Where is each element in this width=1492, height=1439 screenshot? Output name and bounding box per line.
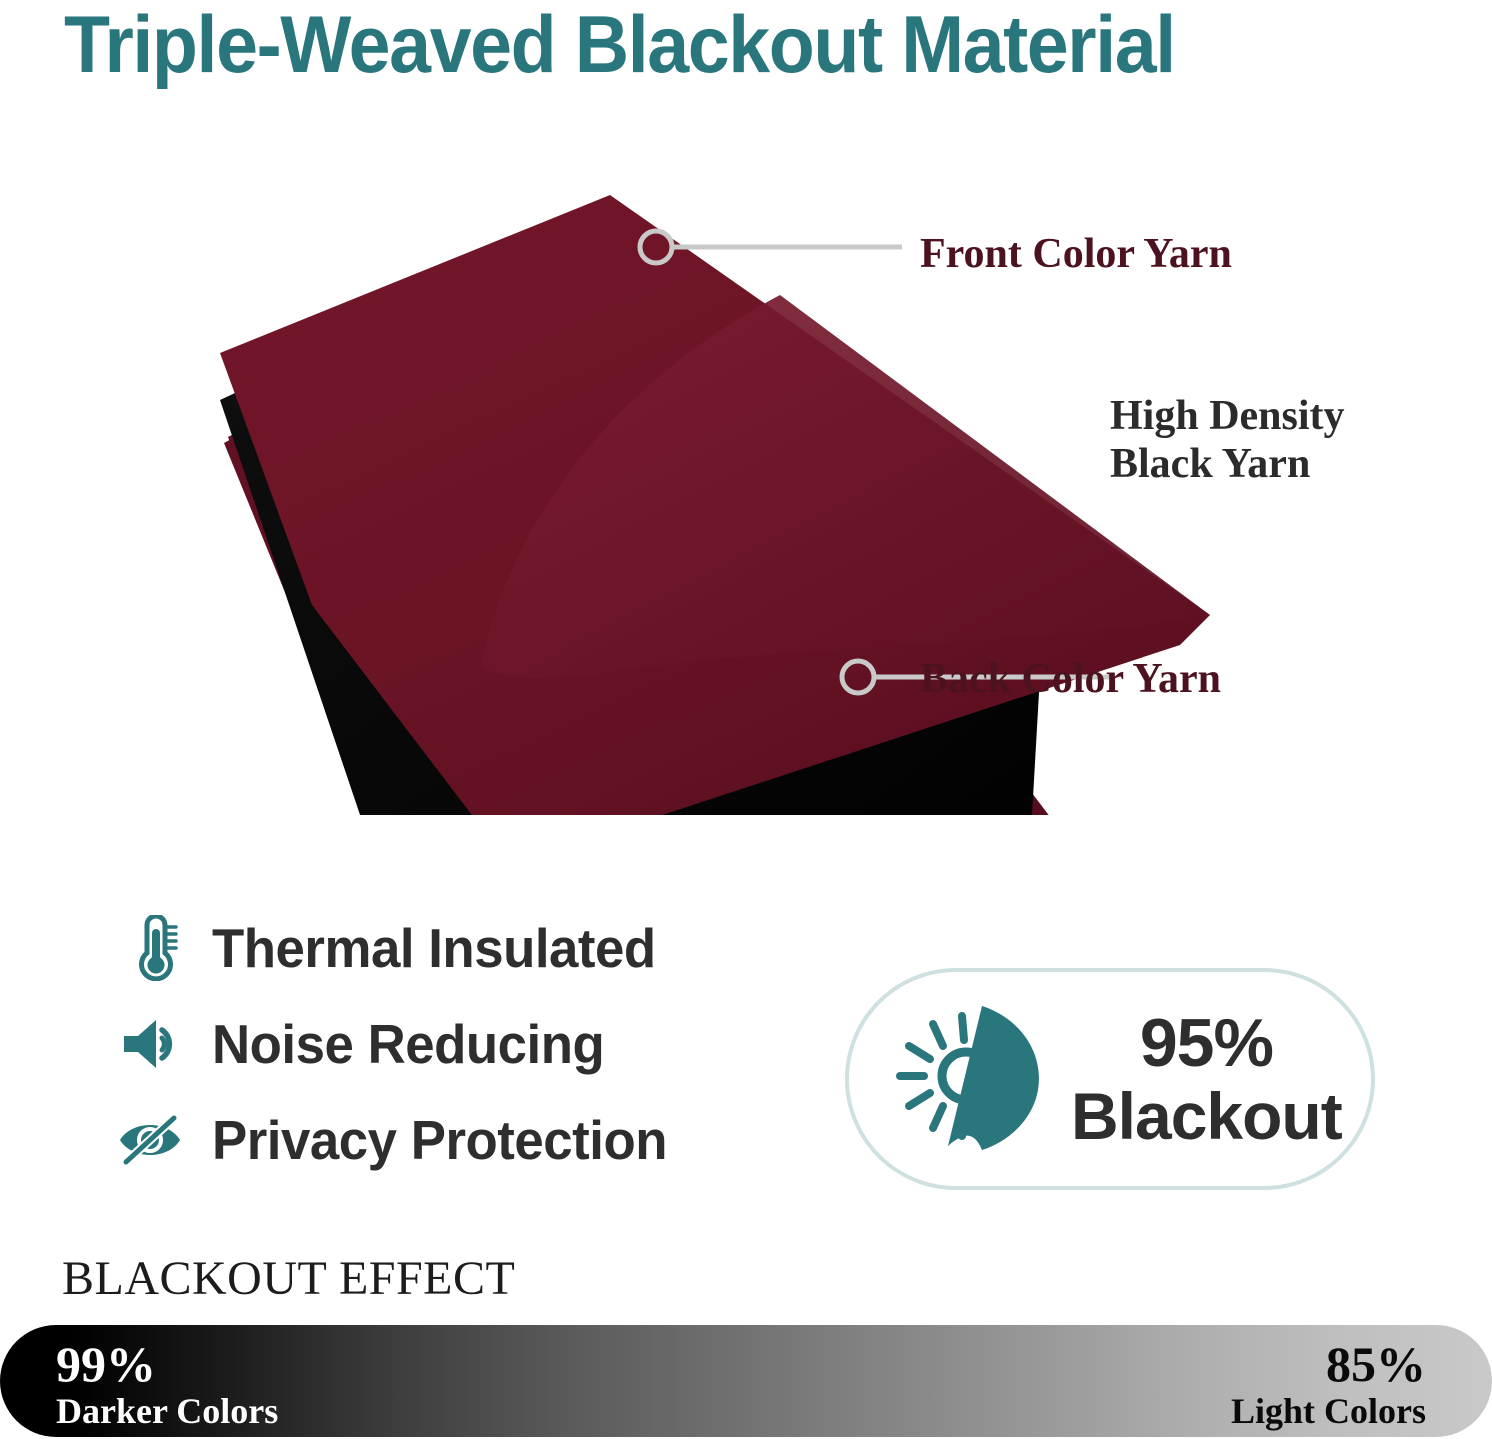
feature-label-thermal: Thermal Insulated xyxy=(212,918,656,978)
light-colors-label: Light Colors xyxy=(1231,1391,1426,1431)
speaker-icon xyxy=(112,1016,190,1072)
blackout-word: Blackout xyxy=(1071,1083,1342,1149)
light-colors-percent: 85% xyxy=(1231,1337,1426,1391)
feature-item-thermal: Thermal Insulated xyxy=(112,900,792,996)
feature-item-privacy: Privacy Protection xyxy=(112,1092,792,1188)
sun-blocked-icon xyxy=(871,1002,1071,1157)
high-density-black-yarn-label: High Density Black Yarn xyxy=(1110,392,1410,488)
darker-colors-stat: 99% Darker Colors xyxy=(56,1337,278,1431)
thermometer-icon xyxy=(112,915,190,981)
darker-colors-label: Darker Colors xyxy=(56,1391,278,1431)
page-title: Triple-Weaved Blackout Material xyxy=(64,2,1366,88)
darker-colors-percent: 99% xyxy=(56,1337,278,1391)
blackout-percent: 95% xyxy=(1071,1009,1342,1077)
label-line-2: Black Yarn xyxy=(1110,441,1310,487)
blackout-effect-heading: BLACKOUT EFFECT xyxy=(62,1252,515,1306)
feature-item-noise: Noise Reducing xyxy=(112,996,792,1092)
eye-off-icon xyxy=(112,1112,190,1168)
back-color-yarn-label: Back Color Yarn xyxy=(920,655,1221,703)
feature-list: Thermal Insulated Noise Reducing Privacy… xyxy=(112,900,792,1188)
blackout-badge: 95% Blackout xyxy=(845,968,1375,1190)
feature-label-privacy: Privacy Protection xyxy=(212,1110,667,1170)
front-color-yarn-label: Front Color Yarn xyxy=(920,230,1232,278)
label-line-1: High Density xyxy=(1110,393,1345,439)
light-colors-stat: 85% Light Colors xyxy=(1231,1337,1426,1431)
blackout-badge-text: 95% Blackout xyxy=(1071,1009,1342,1149)
feature-label-noise: Noise Reducing xyxy=(212,1014,604,1074)
